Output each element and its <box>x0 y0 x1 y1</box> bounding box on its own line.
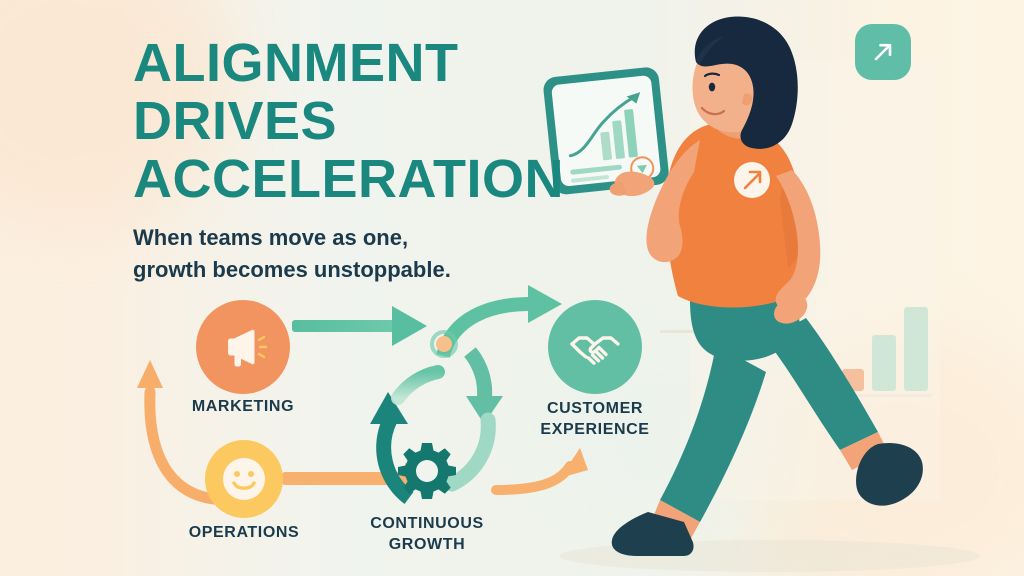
headline: ALIGNMENT DRIVES ACCELERATION <box>133 34 603 208</box>
continuous-growth-label: CONTINUOUS GROWTH <box>342 513 512 555</box>
megaphone-icon <box>214 318 272 376</box>
headline-line-1: ALIGNMENT <box>133 34 603 92</box>
flow-node-operations[interactable]: OPERATIONS <box>205 440 283 518</box>
customer-experience-label: CUSTOMER EXPERIENCE <box>505 398 685 440</box>
flow-node-marketing[interactable]: MARKETING <box>196 300 290 394</box>
gear-icon <box>392 437 462 507</box>
customer-experience-icon-circle <box>548 300 642 394</box>
person-front-leg <box>766 318 923 506</box>
subheadline-line-2: growth becomes unstoppable. <box>133 254 573 286</box>
marketing-icon-circle <box>196 300 290 394</box>
handshake-icon <box>565 317 625 377</box>
flow-node-continuous-growth[interactable]: CONTINUOUS GROWTH <box>392 437 462 507</box>
poster-canvas: ALIGNMENT DRIVES ACCELERATION When teams… <box>0 0 1024 576</box>
headline-line-3: ACCELERATION <box>133 150 603 208</box>
corner-badge[interactable] <box>855 24 911 80</box>
marketing-label: MARKETING <box>192 398 294 416</box>
operations-icon-circle <box>205 440 283 518</box>
growth-icon-circle <box>392 437 462 507</box>
operations-label: OPERATIONS <box>189 524 300 542</box>
subheadline: When teams move as one, growth becomes u… <box>133 222 573 286</box>
shirt-logo-arrow-up-right-circle-icon <box>734 162 770 198</box>
smiley-face-icon <box>219 454 269 504</box>
arrow-up-right-icon <box>868 37 898 67</box>
flow-node-customer-experience[interactable]: CUSTOMER EXPERIENCE <box>548 300 642 394</box>
headline-line-2: DRIVES <box>133 92 603 150</box>
subheadline-line-1: When teams move as one, <box>133 222 573 254</box>
